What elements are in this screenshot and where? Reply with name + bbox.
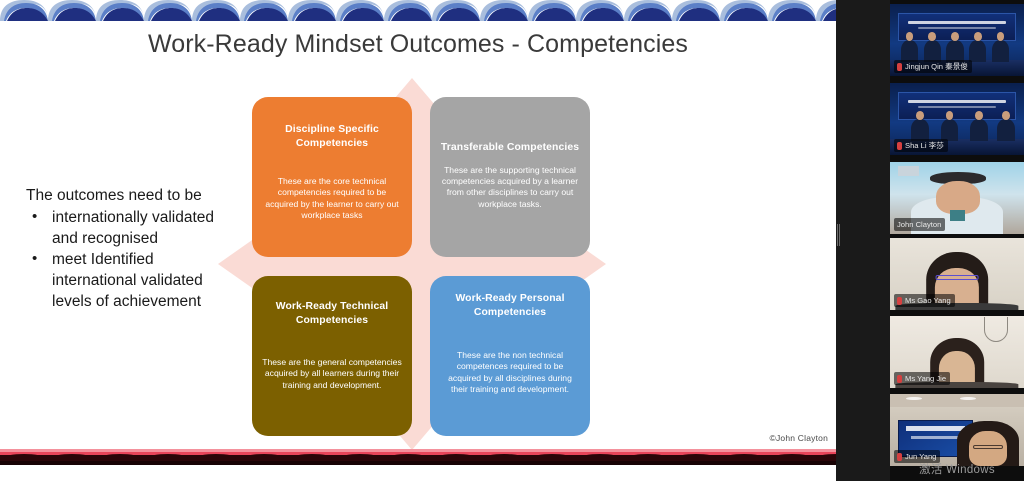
quadrant-title: Work-Ready Technical Competencies <box>262 276 402 327</box>
quadrant-title: Work-Ready Personal Competencies <box>440 276 580 319</box>
video-tile-participant-4[interactable]: Ms Gao Yang <box>890 238 1024 310</box>
panel-resize-handle[interactable] <box>836 224 842 246</box>
quadrant-discipline-specific[interactable]: Discipline Specific Competencies These a… <box>252 97 412 257</box>
quadrant-body: These are the general competencies acqui… <box>262 327 402 391</box>
microphone-muted-icon <box>897 63 902 71</box>
quadrant-title: Transferable Competencies <box>440 97 580 155</box>
slide-copyright: ©John Clayton <box>770 433 828 443</box>
share-video-divider <box>836 0 890 481</box>
video-tile-participant-3[interactable]: John Clayton <box>890 162 1024 234</box>
competency-matrix: Discipline Specific Competencies These a… <box>252 97 580 436</box>
screen-root: Work-Ready Mindset Outcomes - Competenci… <box>0 0 1024 481</box>
participant-name-tag: Jingjun Qin 秦景俊 <box>894 60 972 73</box>
participant-name: Ms Yang Jie <box>905 373 946 384</box>
video-participant-strip[interactable]: Jingjun Qin 秦景俊 Sha Li 李莎 <box>890 0 1024 481</box>
quadrant-body: These are the core technical competencie… <box>262 150 402 222</box>
video-tile-participant-1[interactable]: Jingjun Qin 秦景俊 <box>890 4 1024 76</box>
participant-name-tag: Ms Yang Jie <box>894 372 950 385</box>
left-text-lead: The outcomes need to be <box>26 185 231 206</box>
participant-name-tag: Ms Gao Yang <box>894 294 955 307</box>
quadrant-work-ready-personal[interactable]: Work-Ready Personal Competencies These a… <box>430 276 590 436</box>
participant-name: Jingjun Qin 秦景俊 <box>905 61 968 72</box>
quadrant-work-ready-technical[interactable]: Work-Ready Technical Competencies These … <box>252 276 412 436</box>
video-tile-participant-6[interactable]: Jun Yang <box>890 394 1024 466</box>
quadrant-body: These are the supporting technical compe… <box>440 155 580 211</box>
slide-bottom-border-decoration <box>0 449 836 465</box>
left-text-bullet-list: internationally validated and recognised… <box>26 207 231 312</box>
participant-name: Sha Li 李莎 <box>905 140 944 151</box>
microphone-muted-icon <box>897 453 902 461</box>
slide-top-border-decoration <box>0 0 836 21</box>
video-tile-participant-2[interactable]: Sha Li 李莎 <box>890 83 1024 155</box>
participant-name: Ms Gao Yang <box>905 295 951 306</box>
list-item: internationally validated and recognised <box>26 207 231 249</box>
quadrant-transferable[interactable]: Transferable Competencies These are the … <box>430 97 590 257</box>
list-item: meet Identified international validated … <box>26 249 231 312</box>
windows-activation-watermark: 激活 Windows <box>890 461 1024 477</box>
microphone-muted-icon <box>897 375 902 383</box>
slide-left-text-block: The outcomes need to be internationally … <box>26 185 231 312</box>
microphone-muted-icon <box>897 142 902 150</box>
participant-name-tag: John Clayton <box>894 218 945 231</box>
presentation-slide: Work-Ready Mindset Outcomes - Competenci… <box>0 0 836 465</box>
shared-screen-area[interactable]: Work-Ready Mindset Outcomes - Competenci… <box>0 0 836 481</box>
quadrant-title: Discipline Specific Competencies <box>262 97 402 150</box>
microphone-muted-icon <box>897 297 902 305</box>
slide-title: Work-Ready Mindset Outcomes - Competenci… <box>0 30 836 59</box>
video-tile-participant-5[interactable]: Ms Yang Jie <box>890 316 1024 388</box>
participant-name: John Clayton <box>897 219 941 230</box>
quadrant-body: These are the non technical competences … <box>440 319 580 396</box>
participant-name-tag: Sha Li 李莎 <box>894 139 948 152</box>
